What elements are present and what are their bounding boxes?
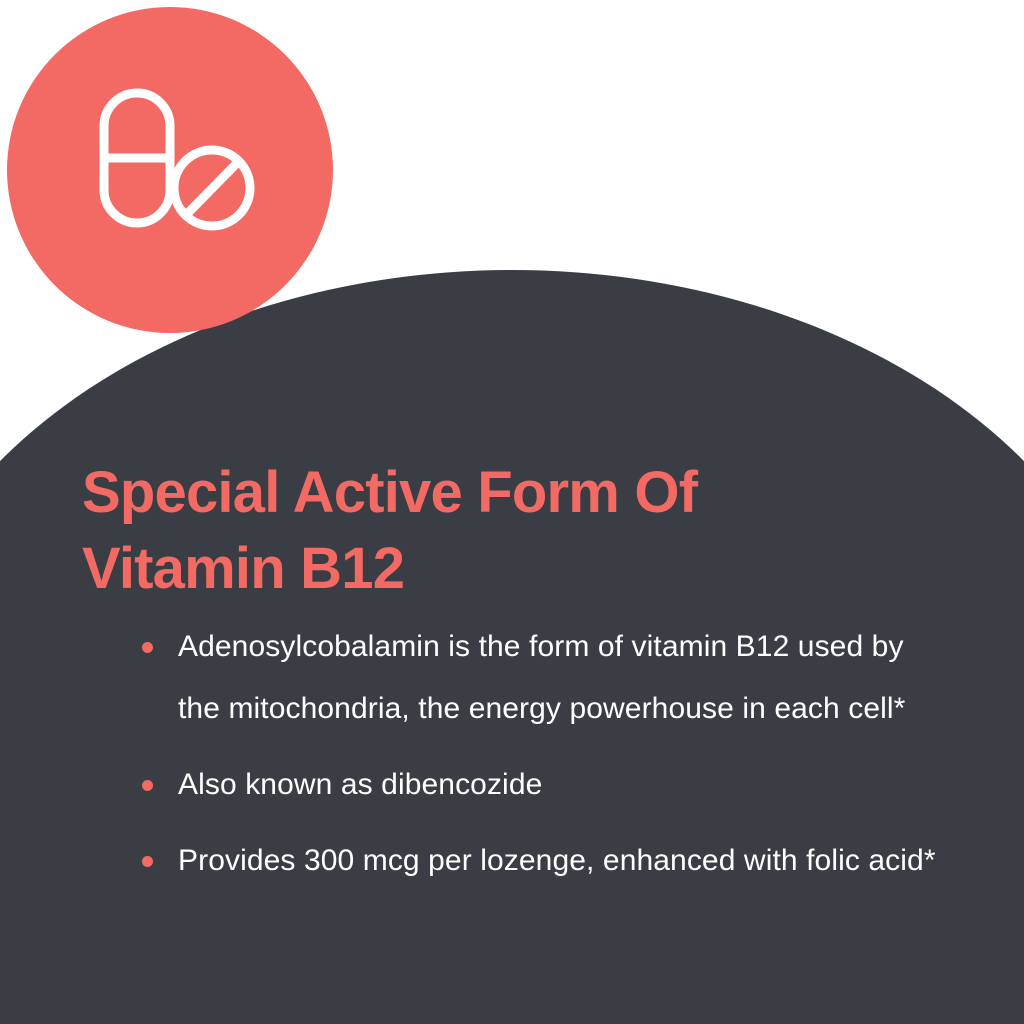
list-item-text: Provides 300 mcg per lozenge, enhanced w… xyxy=(178,844,936,877)
list-item: Provides 300 mcg per lozenge, enhanced w… xyxy=(136,830,936,892)
list-item-text: Also known as dibencozide xyxy=(178,768,542,801)
bullet-dot-icon xyxy=(142,642,153,653)
list-item: Also known as dibencozide xyxy=(136,754,936,816)
list-item: Adenosylcobalamin is the form of vitamin… xyxy=(136,616,936,740)
page-title: Special Active Form Of Vitamin B12 xyxy=(82,455,882,607)
bullet-dot-icon xyxy=(142,780,153,791)
feature-bullet-list: Adenosylcobalamin is the form of vitamin… xyxy=(136,616,936,906)
list-item-text: Adenosylcobalamin is the form of vitamin… xyxy=(178,630,905,725)
product-info-card: Special Active Form Of Vitamin B12 Adeno… xyxy=(0,0,1024,1024)
card-content: Special Active Form Of Vitamin B12 Adeno… xyxy=(0,0,1024,1024)
bullet-dot-icon xyxy=(142,856,153,867)
